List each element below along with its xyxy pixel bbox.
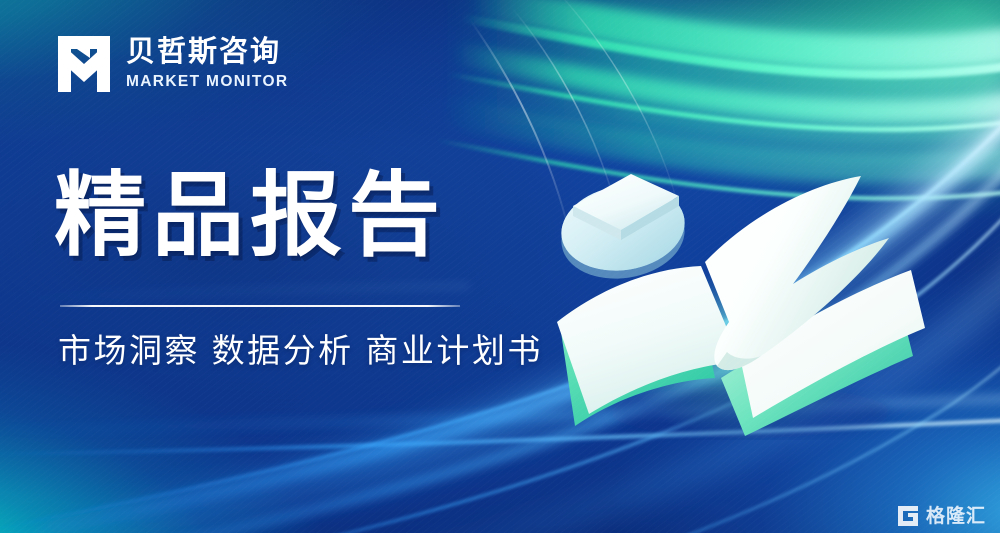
brand-logo-text: 贝哲斯咨询 MARKET MONITOR xyxy=(126,36,288,91)
report-banner: 贝哲斯咨询 MARKET MONITOR 精品报告 市场洞察 数据分析 商业计划… xyxy=(0,0,1000,533)
open-book-illustration xyxy=(545,150,945,440)
watermark: 格隆汇 xyxy=(897,505,986,527)
subtitle: 市场洞察 数据分析 商业计划书 xyxy=(58,330,543,373)
brand-name-en: MARKET MONITOR xyxy=(126,73,288,92)
gelonghui-g-logo-icon xyxy=(897,505,919,527)
brand-name-cn: 贝哲斯咨询 xyxy=(126,36,288,68)
watermark-label: 格隆汇 xyxy=(926,507,986,526)
brand-logo[interactable]: 贝哲斯咨询 MARKET MONITOR xyxy=(56,34,288,94)
market-monitor-m-logo-icon xyxy=(56,34,112,94)
title-divider xyxy=(60,305,460,307)
page-title: 精品报告 xyxy=(54,168,446,265)
